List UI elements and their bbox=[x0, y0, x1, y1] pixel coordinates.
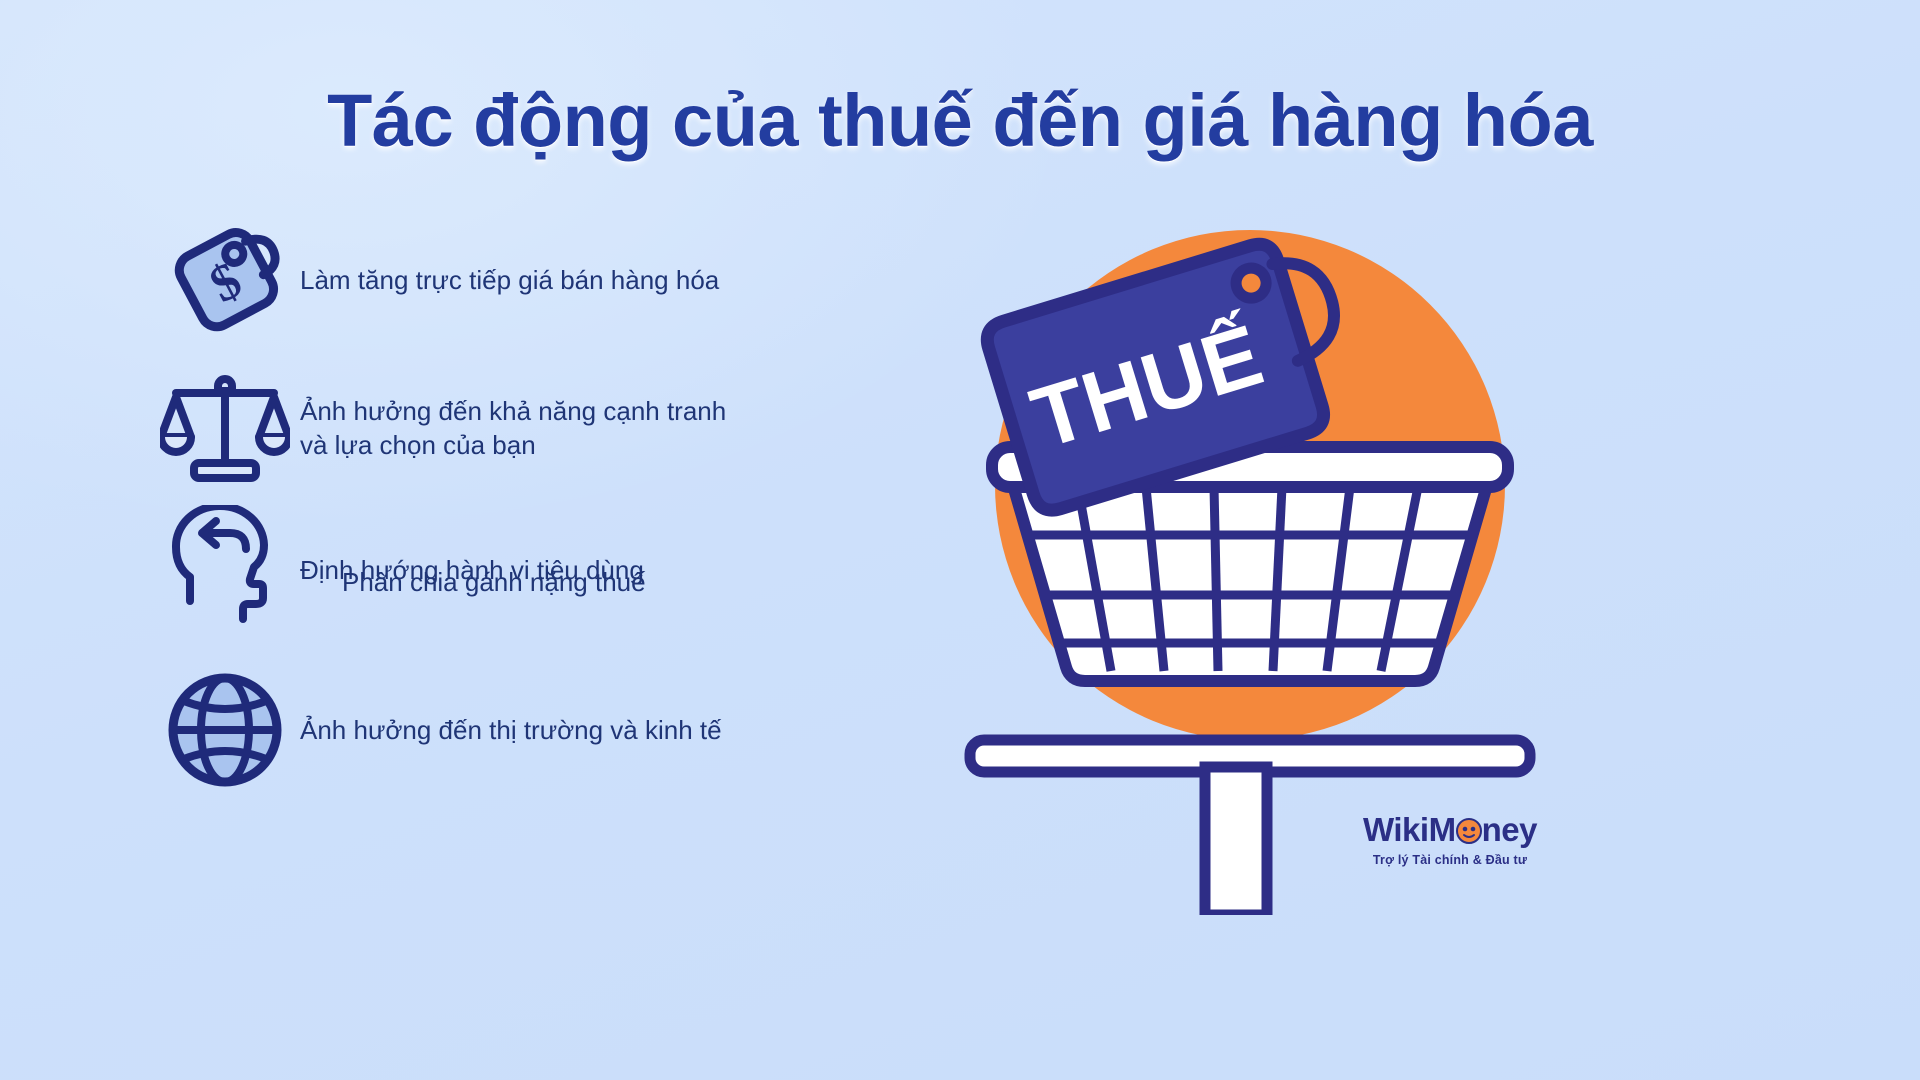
list-item-label: Làm tăng trực tiếp giá bán hàng hóa bbox=[300, 263, 719, 297]
logo-word-after: ney bbox=[1482, 811, 1537, 848]
page-title: Tác động của thuế đến giá hàng hóa bbox=[0, 78, 1920, 163]
list-item-label: Phân chia gánh nặng thuế bbox=[300, 565, 646, 599]
wikimoney-logo[interactable]: WikiMney Trợ lý Tài chính & Đầu tư bbox=[1340, 812, 1560, 867]
logo-word-before: WikiM bbox=[1363, 811, 1456, 848]
price-tag-dollar-icon: $ bbox=[150, 215, 300, 345]
coin-icon bbox=[1456, 815, 1482, 851]
list-item: Phân chia gánh nặng thuế bbox=[300, 565, 646, 599]
list-item-label: Ảnh hưởng đến khả năng cạnh tranh và lựa… bbox=[300, 394, 726, 462]
logo-wordmark: WikiMney bbox=[1340, 812, 1560, 851]
logo-tagline: Trợ lý Tài chính & Đầu tư bbox=[1340, 853, 1560, 867]
list-item: Ảnh hưởng đến khả năng cạnh tranh và lựa… bbox=[150, 363, 726, 493]
list-item: Ảnh hưởng đến thị trường và kinh tế bbox=[150, 665, 722, 795]
globe-icon bbox=[150, 665, 300, 795]
list-item: $ Làm tăng trực tiếp giá bán hàng hóa bbox=[150, 215, 719, 345]
list-item-label: Ảnh hưởng đến thị trường và kinh tế bbox=[300, 713, 722, 747]
shopping-basket-with-tax-tag-illustration: THUẾ bbox=[950, 215, 1550, 915]
balance-scale-icon bbox=[150, 363, 300, 493]
head-behavior-arrow-icon bbox=[150, 505, 300, 635]
